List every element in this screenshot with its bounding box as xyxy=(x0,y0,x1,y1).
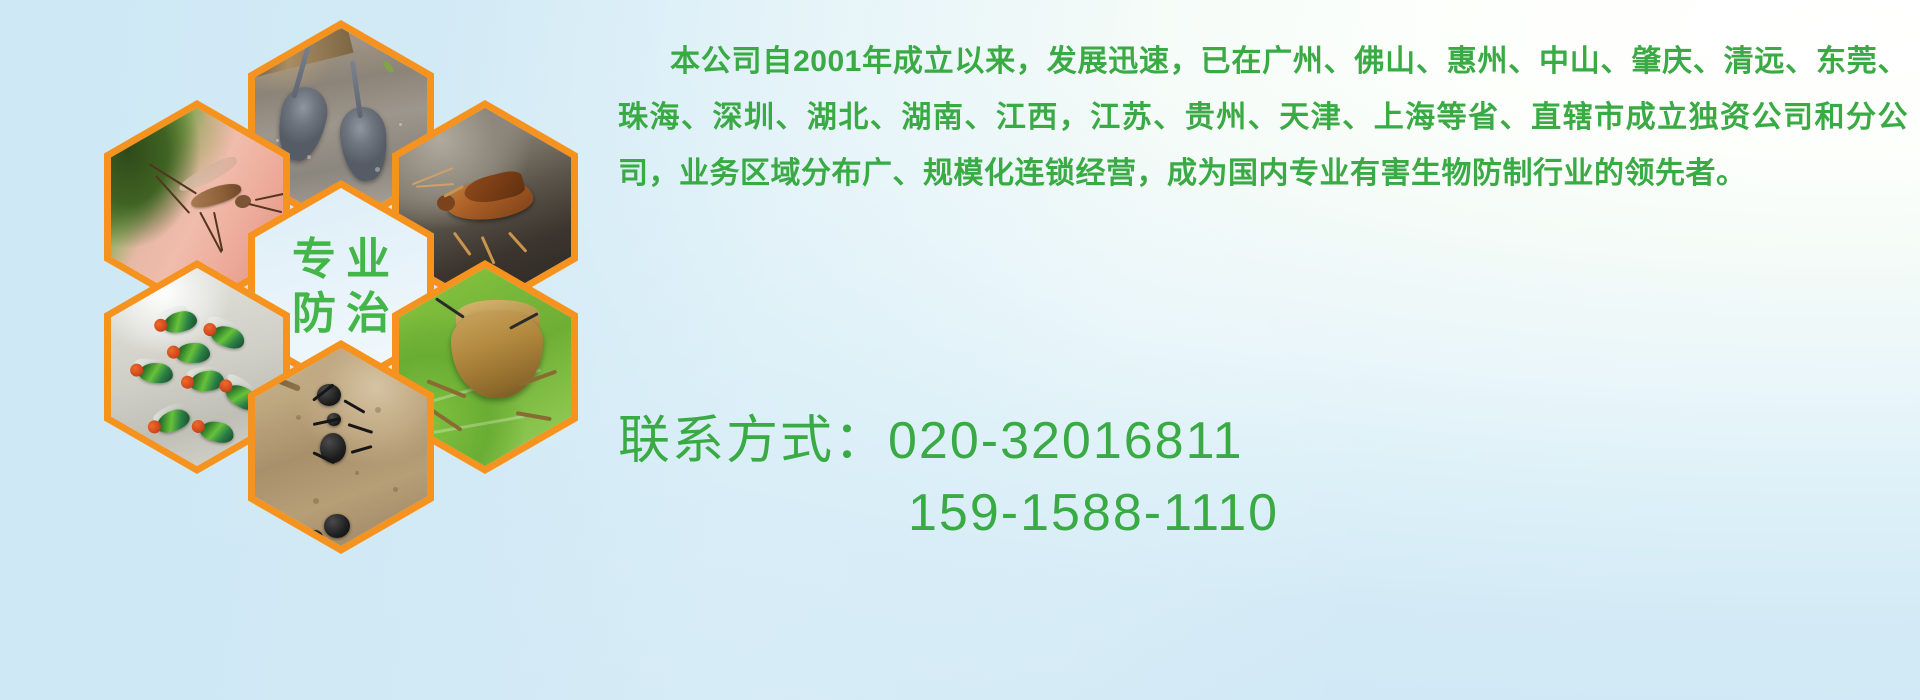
copy-block: 本公司自2001年成立以来，发展迅速，已在广州、佛山、惠州、中山、肇庆、清远、东… xyxy=(618,34,1908,202)
contact-block: 联系方式：020-32016811 159-1588-1110 xyxy=(618,405,1908,549)
banner-canvas: 专业 防治 xyxy=(0,0,1920,700)
contact-secondary-line[interactable]: 159-1588-1110 xyxy=(618,477,1908,549)
contact-primary-line[interactable]: 联系方式：020-32016811 xyxy=(618,405,1908,477)
brand-text-line2: 防治 xyxy=(282,292,400,336)
company-intro-paragraph: 本公司自2001年成立以来，发展迅速，已在广州、佛山、惠州、中山、肇庆、清远、东… xyxy=(618,34,1908,202)
ant-photo-icon xyxy=(255,348,427,546)
honeycomb-graphic: 专业 防治 xyxy=(96,8,586,568)
brand-text-line1: 专业 xyxy=(282,238,400,282)
